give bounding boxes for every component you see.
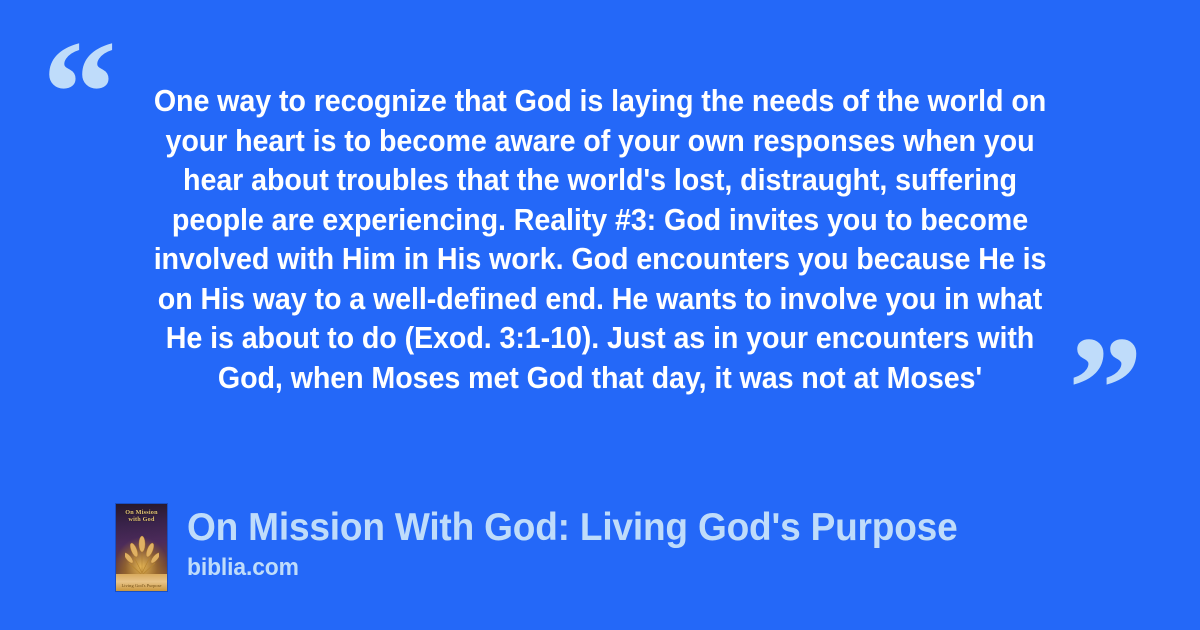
- quote-text: One way to recognize that God is laying …: [139, 82, 1060, 398]
- book-cover-subtitle: Living God's Purpose: [116, 583, 167, 588]
- book-cover-title-line-1: On Mission: [125, 509, 157, 516]
- book-cover-thumbnail[interactable]: On Mission with God: [115, 503, 168, 592]
- quote-card: “ One way to recognize that God is layin…: [0, 0, 1200, 630]
- book-cover-title: On Mission with God: [116, 509, 167, 524]
- opening-quote-icon: “: [42, 18, 115, 168]
- book-cover-title-line-2: with God: [128, 516, 154, 523]
- footer-text: On Mission With God: Living God's Purpos…: [187, 503, 998, 582]
- site-name[interactable]: biblia.com: [187, 554, 958, 582]
- closing-quote-icon: ”: [1068, 314, 1141, 464]
- book-title[interactable]: On Mission With God: Living God's Purpos…: [187, 505, 958, 551]
- wheat-icon: [125, 533, 159, 577]
- footer: On Mission with God: [115, 503, 998, 592]
